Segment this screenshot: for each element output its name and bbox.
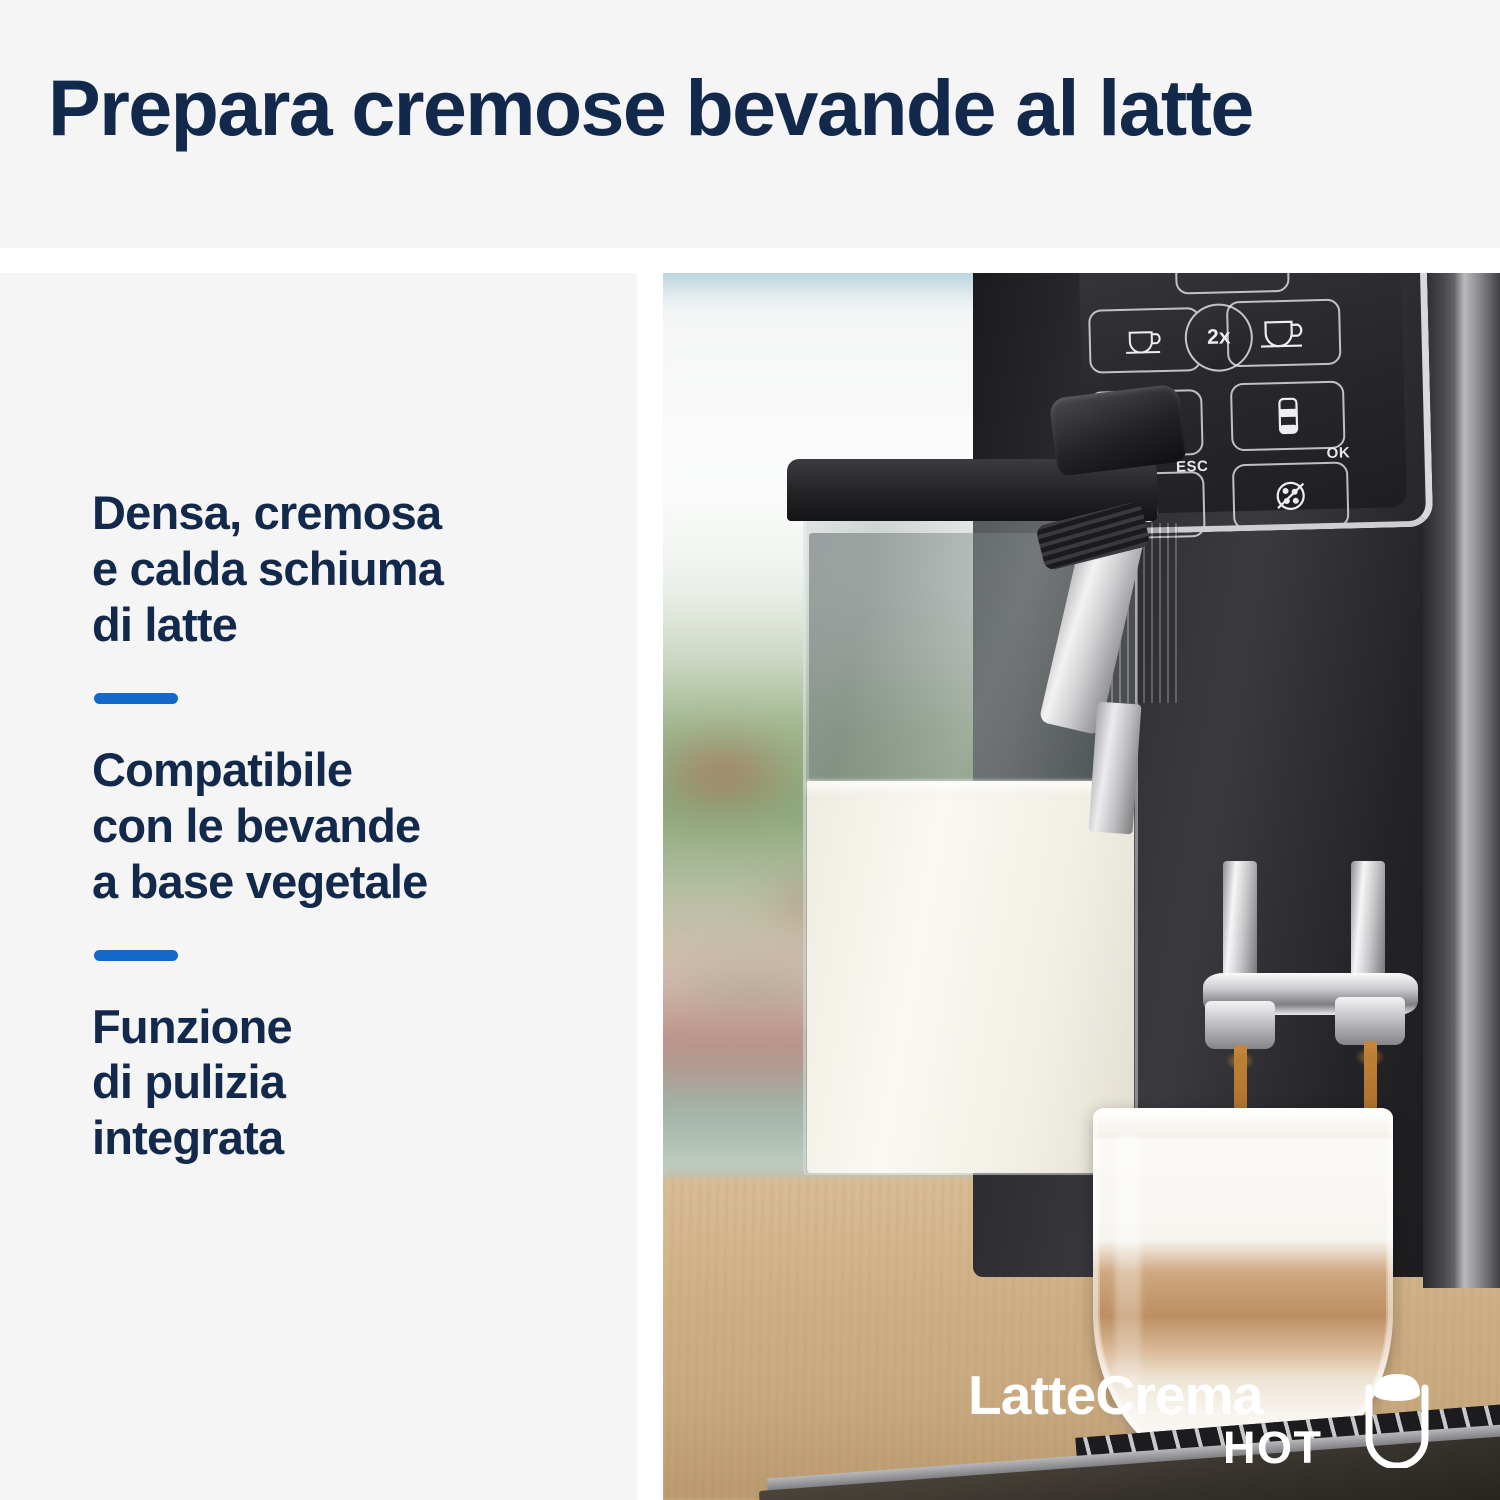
product-photo: 2x bbox=[663, 273, 1500, 1500]
milk-spout-tip bbox=[1089, 702, 1142, 835]
carafe-froth-knob[interactable] bbox=[1049, 383, 1188, 476]
coffee-spout-neck-right bbox=[1351, 861, 1385, 981]
machine-side-panel-inner bbox=[1423, 273, 1457, 1288]
feature-text-2: Compatibile con le bevande a base vegeta… bbox=[92, 742, 592, 910]
coffee-spout-head-left bbox=[1205, 1001, 1275, 1049]
features-panel: Densa, cremosa e calda schiuma di latte … bbox=[0, 273, 637, 1500]
ok-label: OK bbox=[1326, 444, 1350, 462]
feature-item-2: Compatibile con le bevande a base vegeta… bbox=[92, 742, 592, 910]
clean-function-icon bbox=[1267, 475, 1314, 516]
feature-divider-2 bbox=[94, 950, 178, 961]
feature-text-3: Funzione di pulizia integrata bbox=[92, 999, 592, 1167]
foam-cup-icon bbox=[1360, 1366, 1434, 1468]
lattecrema-hot-badge: LatteCrema HOT bbox=[968, 1368, 1438, 1480]
lattecrema-variant-label: HOT bbox=[1223, 1425, 1323, 1470]
clean-ok-button[interactable] bbox=[1232, 461, 1350, 530]
coffee-cup-icon bbox=[1257, 314, 1310, 351]
feature-text-1: Densa, cremosa e calda schiuma di latte bbox=[92, 485, 592, 653]
feature-item-1: Densa, cremosa e calda schiuma di latte bbox=[92, 485, 592, 653]
espresso-splash-right bbox=[1355, 1047, 1385, 1067]
lattecrema-wordmark: LatteCrema bbox=[968, 1368, 1263, 1423]
latte-macchiato-button[interactable] bbox=[1230, 381, 1346, 452]
coffee-bean-button[interactable] bbox=[1174, 273, 1290, 295]
product-feature-banner: Prepara cremose bevande al latte Densa, … bbox=[0, 0, 1500, 1500]
milk-foam-top bbox=[1093, 1108, 1393, 1138]
espresso-splash-left bbox=[1225, 1051, 1255, 1071]
carafe-milk-level bbox=[807, 781, 1134, 1173]
espresso-cup-icon bbox=[1121, 324, 1168, 357]
coffee-bean-icon bbox=[1212, 273, 1253, 274]
feature-item-3: Funzione di pulizia integrata bbox=[92, 999, 592, 1167]
feature-list: Densa, cremosa e calda schiuma di latte … bbox=[92, 485, 592, 1166]
coffee-spout-head-right bbox=[1335, 997, 1405, 1045]
machine-side-panel bbox=[1455, 273, 1500, 1288]
coffee-spout-neck-left bbox=[1223, 861, 1257, 981]
coffee-button[interactable] bbox=[1226, 299, 1342, 368]
carafe-milk-surface bbox=[807, 781, 1134, 797]
feature-divider-1 bbox=[94, 693, 178, 704]
latte-glass-icon bbox=[1270, 395, 1305, 438]
page-title: Prepara cremose bevande al latte bbox=[48, 68, 1448, 147]
header-band: Prepara cremose bevande al latte bbox=[0, 0, 1500, 248]
esc-label: ESC bbox=[1176, 458, 1209, 476]
